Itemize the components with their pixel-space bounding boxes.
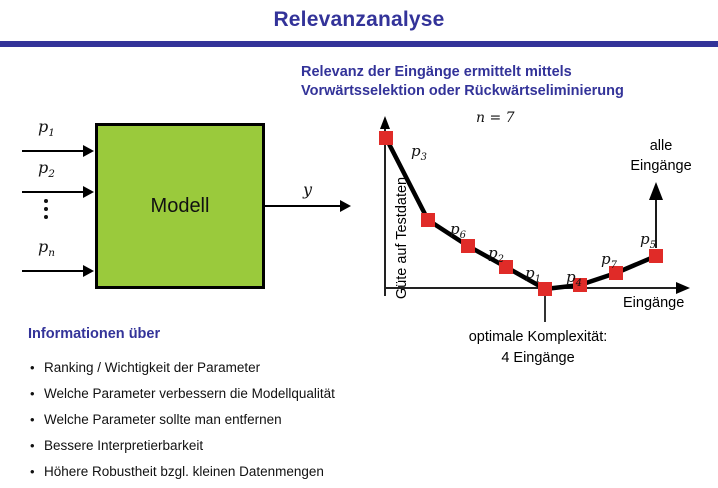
bullet-icon: • [30, 459, 44, 485]
point-label-p4: p4 [566, 268, 582, 289]
relevance-heading-line1: Relevanz der Eingänge ermittelt mittels [301, 63, 716, 82]
data-point-0[interactable] [379, 131, 393, 145]
point-label-p3: p3 [411, 142, 427, 163]
input-arrow-head-p2 [83, 186, 94, 198]
x-axis-arrowhead [676, 282, 690, 294]
input-arrow-head-p1 [83, 145, 94, 157]
title-divider [0, 41, 718, 47]
point-label-p7: p7 [601, 250, 617, 271]
bullet-icon: • [30, 381, 44, 407]
list-item-label: Ranking / Wichtigkeit der Parameter [44, 355, 260, 381]
input-arrow-line-pn [22, 270, 84, 272]
data-point-p3[interactable] [421, 213, 435, 227]
output-label-y: y [303, 180, 312, 199]
relevance-heading-line2: Vorwärtsselektion oder Rückwärtseliminie… [301, 82, 716, 101]
info-section-heading: Informationen über [28, 326, 160, 342]
point-label-p1: p1 [525, 264, 541, 285]
n-equals-label: n = 7 [476, 110, 515, 126]
input-label-pn: pn [38, 237, 55, 259]
x-axis-label: Eingänge [623, 295, 684, 311]
input-label-p1: p1 [38, 117, 55, 139]
optimum-line2: 4 Eingänge [438, 348, 638, 369]
all-inputs-arrow-head [649, 182, 663, 200]
model-block-label: Modell [98, 126, 262, 286]
input-vertical-dots [42, 195, 50, 223]
bullet-icon: • [30, 355, 44, 381]
all-inputs-line1: alle [607, 136, 715, 156]
page-title: Relevanzanalyse [0, 8, 718, 32]
optimum-line1: optimale Komplexität: [438, 327, 638, 348]
info-list: • Ranking / Wichtigkeit der Parameter • … [30, 355, 440, 485]
input-label-p2: p2 [38, 158, 55, 180]
data-point-p5[interactable] [649, 249, 663, 263]
list-item-label: Welche Parameter verbessern die Modellqu… [44, 381, 335, 407]
bullet-icon: • [30, 407, 44, 433]
point-label-p5: p5 [640, 230, 656, 251]
optimum-annotation: optimale Komplexität: 4 Eingänge [438, 327, 638, 369]
point-label-p6: p6 [450, 220, 466, 241]
all-inputs-annotation: alle Eingänge [607, 136, 715, 176]
input-arrow-line-p2 [22, 191, 84, 193]
list-item: • Welche Parameter sollte man entfernen [30, 407, 440, 433]
list-item: • Höhere Robustheit bzgl. kleinen Datenm… [30, 459, 440, 485]
relevance-heading: Relevanz der Eingänge ermittelt mittels … [301, 63, 716, 101]
model-block[interactable]: Modell [95, 123, 265, 289]
output-arrow-head [340, 200, 351, 212]
y-axis-arrowhead [380, 116, 390, 129]
list-item: • Ranking / Wichtigkeit der Parameter [30, 355, 440, 381]
all-inputs-line2: Eingänge [607, 156, 715, 176]
bullet-icon: • [30, 433, 44, 459]
relevance-chart: Güte auf Testdaten Eingänge n = 7 alle E… [358, 112, 718, 322]
y-axis-label: Güte auf Testdaten [394, 153, 410, 323]
output-arrow-line [265, 205, 341, 207]
point-label-p2: p2 [488, 244, 504, 265]
input-arrow-head-pn [83, 265, 94, 277]
list-item: • Welche Parameter verbessern die Modell… [30, 381, 440, 407]
input-arrow-line-p1 [22, 150, 84, 152]
list-item: • Bessere Interpretierbarkeit [30, 433, 440, 459]
list-item-label: Welche Parameter sollte man entfernen [44, 407, 282, 433]
list-item-label: Bessere Interpretierbarkeit [44, 433, 203, 459]
list-item-label: Höhere Robustheit bzgl. kleinen Datenmen… [44, 459, 324, 485]
data-point-p6[interactable] [461, 239, 475, 253]
